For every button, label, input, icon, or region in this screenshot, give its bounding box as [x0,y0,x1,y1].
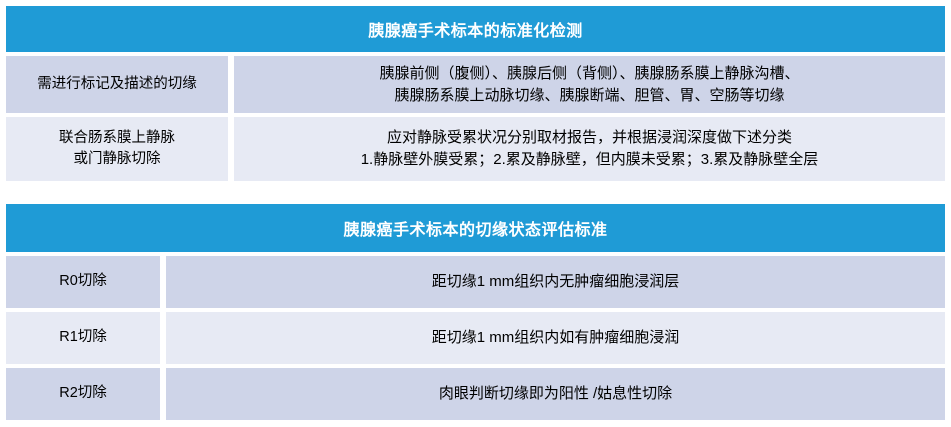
row-value-r0: 距切缘1 mm组织内无肿瘤细胞浸润层 [166,256,945,308]
table-row: 需进行标记及描述的切缘 胰腺前侧（腹侧）、胰腺后侧（背侧）、胰腺肠系膜上静脉沟槽… [6,56,945,113]
table-row: R0切除 距切缘1 mm组织内无肿瘤细胞浸润层 [6,256,945,308]
row-label-margins-to-mark: 需进行标记及描述的切缘 [6,56,228,113]
row-value-margins-to-mark: 胰腺前侧（腹侧）、胰腺后侧（背侧）、胰腺肠系膜上静脉沟槽、 胰腺肠系膜上动脉切缘… [234,56,945,113]
table-row: R1切除 距切缘1 mm组织内如有肿瘤细胞浸润 [6,312,945,364]
row-label-r2: R2切除 [6,368,160,420]
table-two-body: R0切除 距切缘1 mm组织内无肿瘤细胞浸润层 R1切除 距切缘1 mm组织内如… [6,252,945,420]
table-one-header: 胰腺癌手术标本的标准化检测 [6,6,945,52]
margin-status-criteria-table: 胰腺癌手术标本的切缘状态评估标准 R0切除 距切缘1 mm组织内无肿瘤细胞浸润层… [6,204,945,420]
row-value-vein-resection: 应对静脉受累状况分别取材报告，并根据浸润深度做下述分类 1.静脉壁外膜受累；2.… [234,117,945,181]
row-value-r2: 肉眼判断切缘即为阳性 /姑息性切除 [166,368,945,420]
page-root: 胰腺癌手术标本的标准化检测 需进行标记及描述的切缘 胰腺前侧（腹侧）、胰腺后侧（… [0,0,951,427]
table-one-body: 需进行标记及描述的切缘 胰腺前侧（腹侧）、胰腺后侧（背侧）、胰腺肠系膜上静脉沟槽… [6,52,945,181]
table-row: 联合肠系膜上静脉 或门静脉切除 应对静脉受累状况分别取材报告，并根据浸润深度做下… [6,117,945,181]
row-label-vein-resection: 联合肠系膜上静脉 或门静脉切除 [6,117,228,181]
row-label-r0: R0切除 [6,256,160,308]
row-value-r1: 距切缘1 mm组织内如有肿瘤细胞浸润 [166,312,945,364]
table-row: R2切除 肉眼判断切缘即为阳性 /姑息性切除 [6,368,945,420]
standardized-examination-table: 胰腺癌手术标本的标准化检测 需进行标记及描述的切缘 胰腺前侧（腹侧）、胰腺后侧（… [6,6,945,181]
row-label-r1: R1切除 [6,312,160,364]
table-two-header: 胰腺癌手术标本的切缘状态评估标准 [6,204,945,252]
